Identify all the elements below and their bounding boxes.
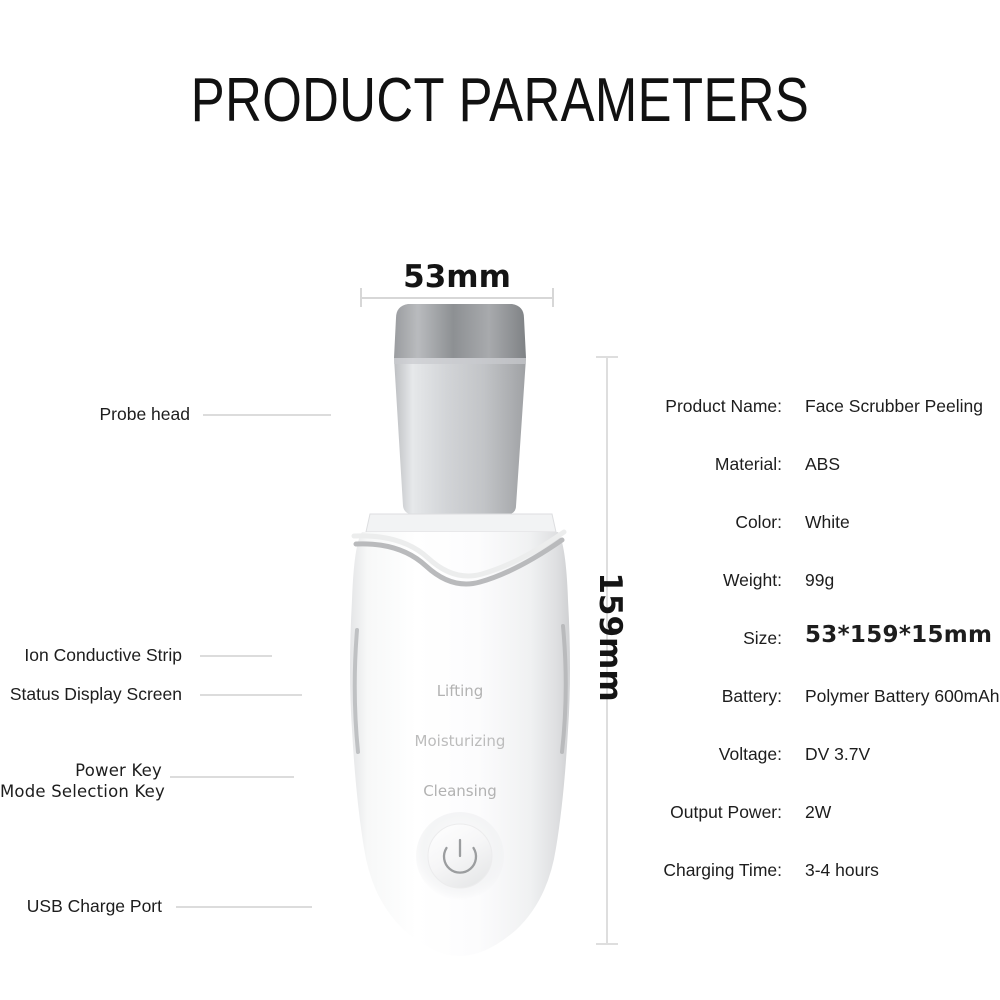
spec-label-output-power: Output Power: — [620, 801, 782, 823]
spec-row-product-name: Product Name: Face Scrubber Peeling — [620, 395, 1000, 453]
probe-head-blade — [394, 358, 526, 515]
spec-value-voltage: DV 3.7V — [805, 743, 870, 765]
spec-label-color: Color: — [620, 511, 782, 533]
spec-label-voltage: Voltage: — [620, 743, 782, 765]
leader-line-probe-head — [203, 414, 331, 416]
width-dimension-label: 53mm — [357, 259, 557, 295]
page-title: PRODUCT PARAMETERS — [90, 66, 910, 136]
spec-value-product-name: Face Scrubber Peeling — [805, 395, 983, 417]
collar-plate — [366, 514, 556, 532]
height-dimension-tick-bottom — [596, 943, 618, 945]
mode-label-moisturizing: Moisturizing — [415, 732, 506, 750]
width-dimension-line — [360, 297, 554, 299]
mode-label-lifting: Lifting — [437, 682, 484, 700]
callout-label-mode-selection-key: Mode Selection Key — [0, 781, 162, 802]
callout-power-key: Power Key Mode Selection Key — [0, 760, 162, 802]
callout-label-power-key: Power Key — [0, 760, 162, 781]
spec-row-size: Size: 53*159*15mm — [620, 627, 1000, 685]
probe-head-top — [394, 304, 526, 358]
leader-line-ion-conductive-strip — [200, 655, 272, 657]
spec-row-charging-time: Charging Time: 3-4 hours — [620, 859, 1000, 917]
callout-probe-head: Probe head — [0, 403, 190, 425]
height-dimension-tick-top — [596, 356, 618, 358]
spec-label-product-name: Product Name: — [620, 395, 782, 417]
spec-row-weight: Weight: 99g — [620, 569, 1000, 627]
spec-value-size: 53*159*15mm — [805, 624, 992, 646]
spec-row-battery: Battery: Polymer Battery 600mAh — [620, 685, 1000, 743]
spec-label-battery: Battery: — [620, 685, 782, 707]
spec-label-size: Size: — [620, 627, 782, 649]
callout-label-usb-charge-port: USB Charge Port — [27, 896, 162, 916]
spec-value-output-power: 2W — [805, 801, 831, 823]
specification-table: Product Name: Face Scrubber Peeling Mate… — [620, 395, 1000, 917]
spec-value-battery: Polymer Battery 600mAh — [805, 685, 1000, 707]
leader-line-power-key — [170, 776, 294, 778]
spec-value-weight: 99g — [805, 569, 834, 591]
callout-usb-charge-port: USB Charge Port — [0, 895, 162, 917]
spec-row-color: Color: White — [620, 511, 1000, 569]
mode-label-cleansing: Cleansing — [423, 782, 497, 800]
spec-label-material: Material: — [620, 453, 782, 475]
probe-head-seam — [394, 358, 526, 364]
spec-row-material: Material: ABS — [620, 453, 1000, 511]
callout-label-probe-head: Probe head — [100, 404, 191, 424]
callout-ion-conductive-strip: Ion Conductive Strip — [0, 644, 182, 666]
spec-label-weight: Weight: — [620, 569, 782, 591]
spec-row-voltage: Voltage: DV 3.7V — [620, 743, 1000, 801]
spec-label-charging-time: Charging Time: — [620, 859, 782, 881]
callout-label-ion-conductive-strip: Ion Conductive Strip — [24, 645, 182, 665]
callout-status-display-screen: Status Display Screen — [0, 683, 182, 705]
spec-value-material: ABS — [805, 453, 840, 475]
spec-value-color: White — [805, 511, 850, 533]
leader-line-usb-charge-port — [176, 906, 312, 908]
product-illustration: Lifting Moisturizing Cleansing — [330, 300, 590, 960]
spec-value-charging-time: 3-4 hours — [805, 859, 879, 881]
spec-row-output-power: Output Power: 2W — [620, 801, 1000, 859]
leader-line-status-display-screen — [200, 694, 302, 696]
callout-label-status-display-screen: Status Display Screen — [10, 684, 182, 704]
